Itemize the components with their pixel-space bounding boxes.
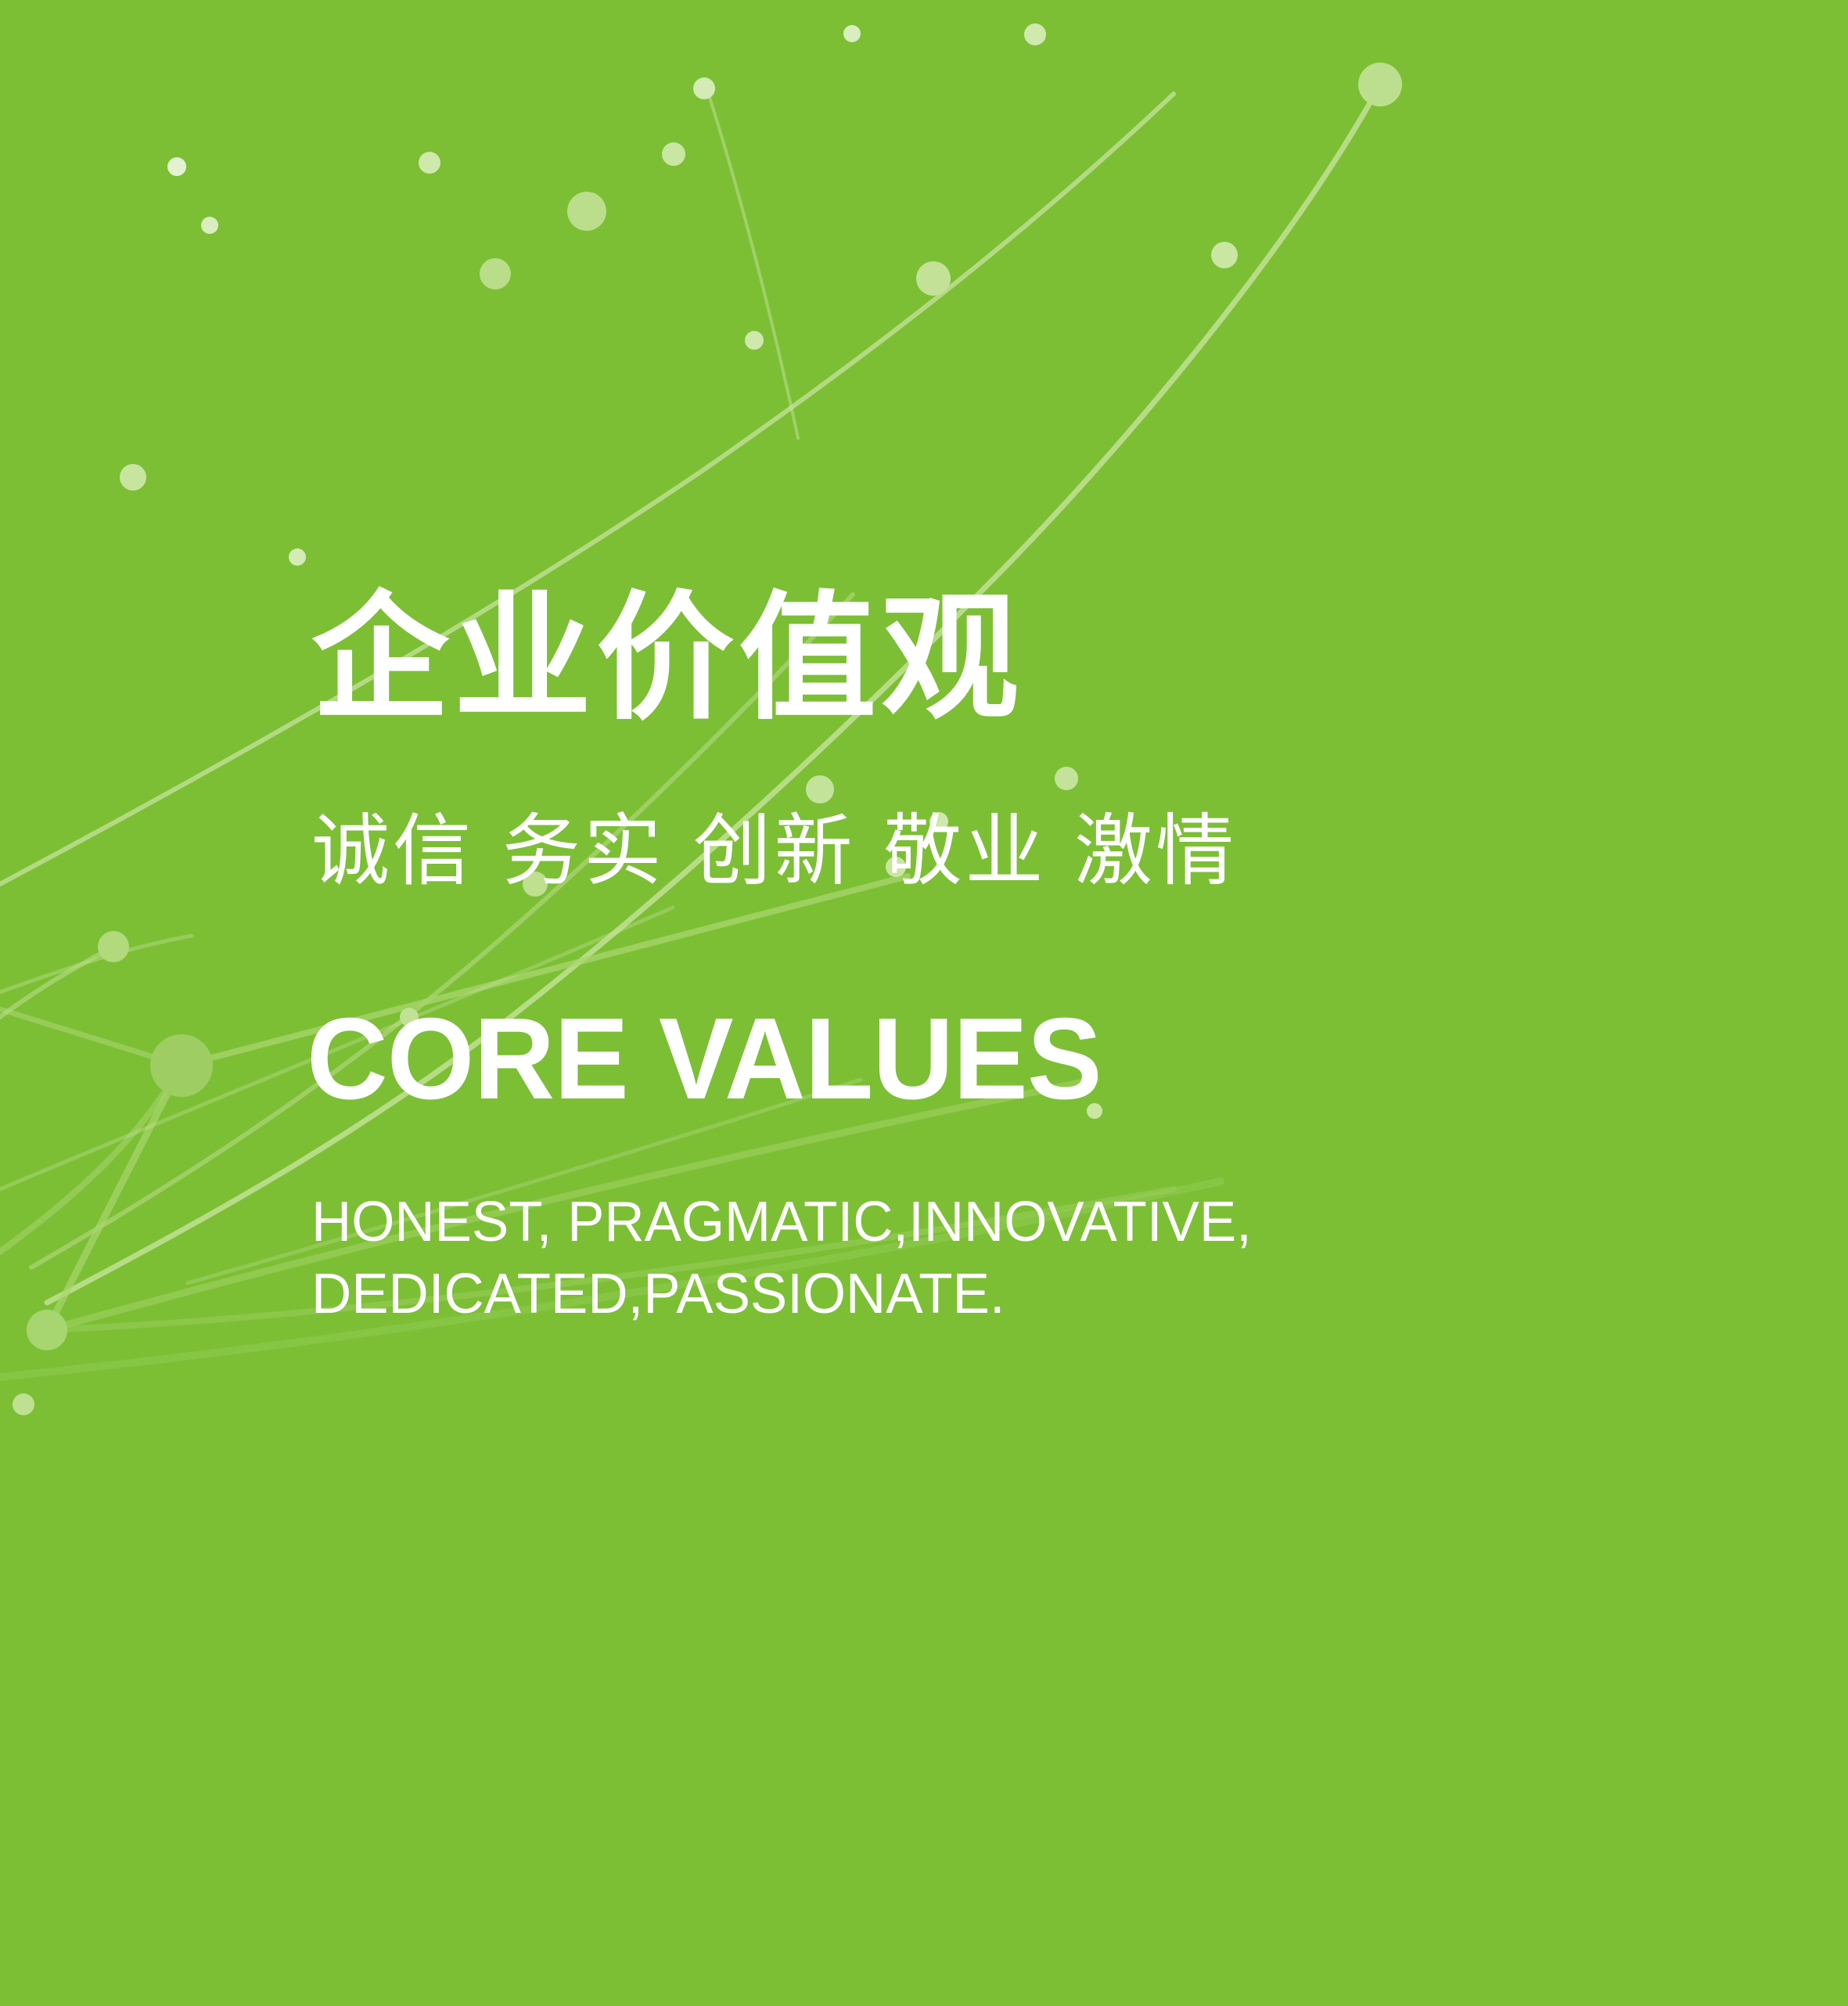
page-title-en: CORE VALUES [307, 1001, 1102, 1117]
poster-content: 企业价值观 诚信 务实 创新 敬业 激情 CORE VALUES HONEST,… [311, 0, 1798, 2006]
core-values-poster: 企业价值观 诚信 务实 创新 敬业 激情 CORE VALUES HONEST,… [0, 0, 1848, 2006]
page-title-zh: 企业价值观 [311, 590, 1023, 728]
values-list-en: HONEST, PRAGMATIC,INNOVATIVE, DEDICATED,… [311, 1186, 1252, 1330]
values-list-zh: 诚信 务实 创新 敬业 激情 [311, 812, 1237, 890]
